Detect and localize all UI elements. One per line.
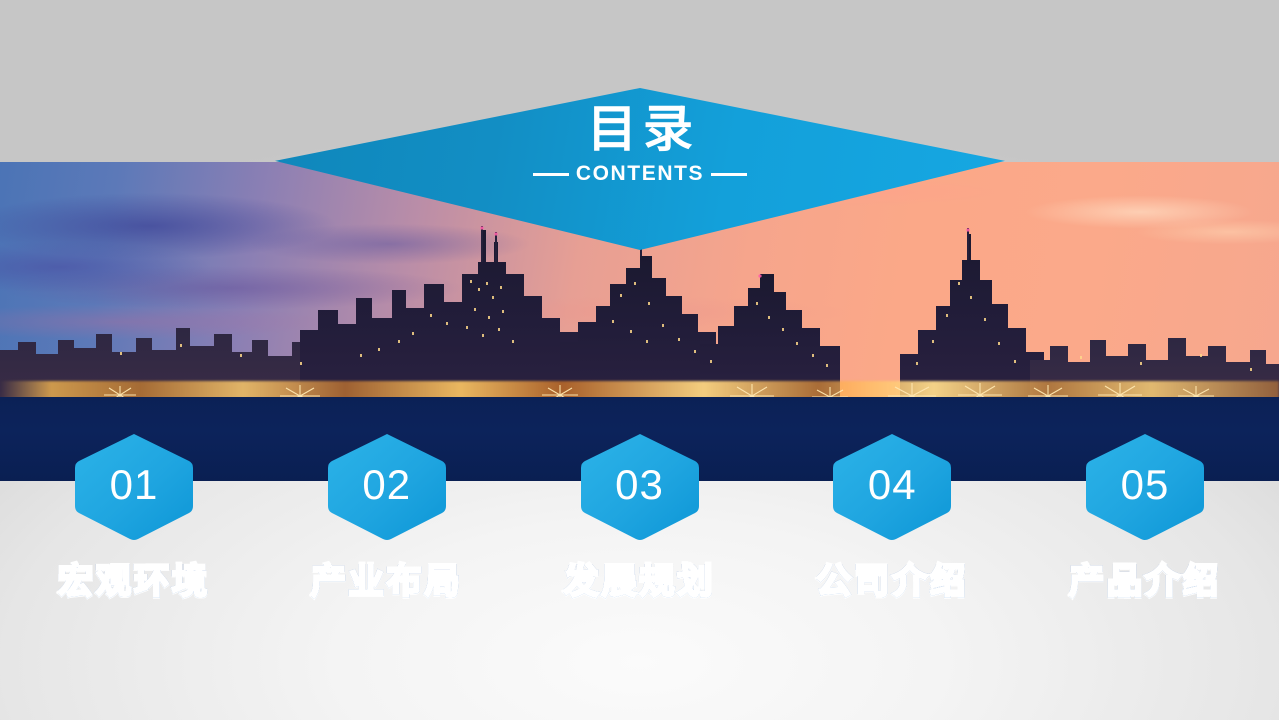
agenda-item[interactable]: 01 宏观环境: [16, 432, 252, 632]
hexagon-badge[interactable]: 01: [72, 432, 196, 542]
agenda-item-label: 产品介绍: [1069, 564, 1221, 599]
hexagon-badge[interactable]: 04: [830, 432, 954, 542]
agenda-item-label: 产业布局: [311, 564, 463, 599]
agenda-item[interactable]: 03 发展规划: [522, 432, 758, 632]
hexagon-badge[interactable]: 03: [578, 432, 702, 542]
agenda-item[interactable]: 05 产品介绍: [1027, 432, 1263, 632]
agenda-item-number: 02: [362, 464, 411, 506]
agenda-item-number: 04: [868, 464, 917, 506]
agenda-item-list: 01 宏观环境 02 产业布局: [0, 432, 1279, 632]
hexagon-badge[interactable]: 05: [1083, 432, 1207, 542]
agenda-item-label: 宏观环境: [58, 564, 210, 599]
agenda-item[interactable]: 02 产业布局: [269, 432, 505, 632]
presentation-slide: 目录 CONTENTS 01 宏观环境: [0, 0, 1279, 720]
agenda-item-number: 01: [110, 464, 159, 506]
agenda-item-label: 公司介绍: [816, 564, 968, 599]
agenda-item-number: 05: [1121, 464, 1170, 506]
agenda-item-number: 03: [615, 464, 664, 506]
hexagon-badge[interactable]: 02: [325, 432, 449, 542]
agenda-item[interactable]: 04 公司介绍: [774, 432, 1010, 632]
agenda-item-label: 发展规划: [563, 564, 715, 599]
